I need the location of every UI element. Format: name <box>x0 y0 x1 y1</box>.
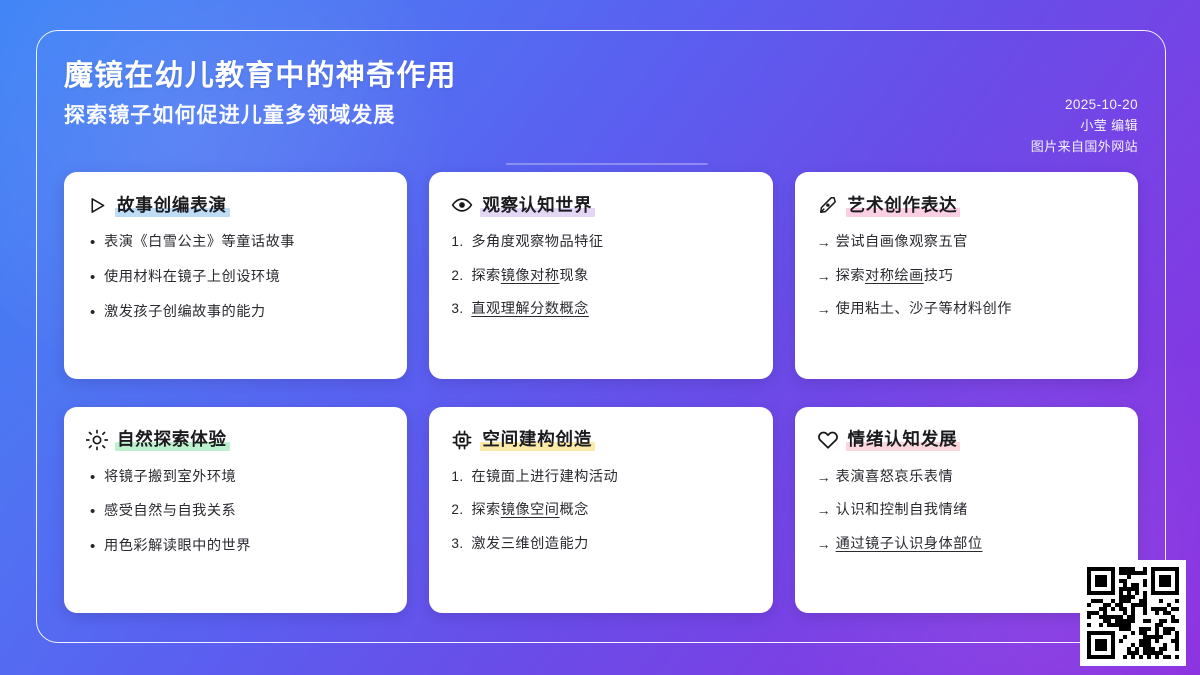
heart-icon <box>817 429 839 451</box>
list-item: 2.探索镜像对称现象 <box>451 266 750 287</box>
list-item-text: 探索镜像对称现象 <box>471 266 750 287</box>
list-item-text: 用色彩解读眼中的世界 <box>104 536 385 557</box>
meta-author: 小莹 编辑 <box>1031 115 1138 136</box>
card-list: •表演《白雪公主》等童话故事•使用材料在镜子上创设环境•激发孩子创编故事的能力 <box>86 232 385 323</box>
list-marker-arrow: → <box>817 299 836 319</box>
card-title: 空间建构创造 <box>482 429 592 449</box>
list-item-text: 使用粘土、沙子等材料创作 <box>836 299 1116 320</box>
list-marker-number: 3. <box>451 534 471 554</box>
list-marker-number: 2. <box>451 266 471 286</box>
list-item: →探索对称绘画技巧 <box>817 266 1116 287</box>
list-marker-bullet: • <box>86 302 104 324</box>
list-marker-arrow: → <box>817 534 836 554</box>
header-meta: 2025-10-20 小莹 编辑 图片来自国外网站 <box>1031 94 1138 157</box>
list-marker-arrow: → <box>817 467 836 487</box>
list-item-text: 探索对称绘画技巧 <box>836 266 1116 287</box>
card-grid: 故事创编表演•表演《白雪公主》等童话故事•使用材料在镜子上创设环境•激发孩子创编… <box>64 172 1138 613</box>
list-marker-arrow: → <box>817 500 836 520</box>
list-item: →表演喜怒哀乐表情 <box>817 467 1116 488</box>
sun-icon <box>86 429 108 451</box>
list-marker-bullet: • <box>86 232 104 254</box>
list-item-text: 在镜面上进行建构活动 <box>471 467 750 488</box>
card-title-wrap: 艺术创作表达 <box>848 195 958 216</box>
list-item: •用色彩解读眼中的世界 <box>86 536 385 558</box>
page-title: 魔镜在幼儿教育中的神奇作用 <box>64 58 1138 94</box>
list-item-text: 表演喜怒哀乐表情 <box>836 467 1116 488</box>
list-item: →使用粘土、沙子等材料创作 <box>817 299 1116 320</box>
list-item: 1.多角度观察物品特征 <box>451 232 750 253</box>
list-item-text: 探索镜像空间概念 <box>471 500 750 521</box>
list-item-text: 将镜子搬到室外环境 <box>104 467 385 488</box>
list-item-text: 直观理解分数概念 <box>471 299 750 320</box>
card-list: 1.在镜面上进行建构活动2.探索镜像空间概念3.激发三维创造能力 <box>451 467 750 555</box>
card-header: 空间建构创造 <box>451 429 750 451</box>
underlined-phrase: 镜像对称 <box>501 268 560 284</box>
card-header: 情绪认知发展 <box>817 429 1116 451</box>
list-marker-bullet: • <box>86 467 104 489</box>
meta-source: 图片来自国外网站 <box>1031 136 1138 157</box>
card: 故事创编表演•表演《白雪公主》等童话故事•使用材料在镜子上创设环境•激发孩子创编… <box>64 172 407 379</box>
list-item-text: 认识和控制自我情绪 <box>836 500 1116 521</box>
card-header: 艺术创作表达 <box>817 194 1116 216</box>
card-title: 自然探索体验 <box>117 429 227 449</box>
card-list: 1.多角度观察物品特征2.探索镜像对称现象3.直观理解分数概念 <box>451 232 750 320</box>
list-item: 2.探索镜像空间概念 <box>451 500 750 521</box>
list-item-text: 激发孩子创编故事的能力 <box>104 302 385 323</box>
meta-date: 2025-10-20 <box>1031 94 1138 115</box>
card-title: 艺术创作表达 <box>848 195 958 215</box>
card-title-wrap: 自然探索体验 <box>117 429 227 450</box>
list-item-text: 通过镜子认识身体部位 <box>836 534 1116 555</box>
card: 自然探索体验•将镜子搬到室外环境•感受自然与自我关系•用色彩解读眼中的世界 <box>64 407 407 614</box>
header-divider <box>506 163 708 165</box>
card-title: 观察认知世界 <box>482 195 592 215</box>
list-item: 3.激发三维创造能力 <box>451 534 750 555</box>
list-item-text: 感受自然与自我关系 <box>104 501 385 522</box>
underlined-phrase: 镜像空间 <box>501 502 560 518</box>
qr-code-image <box>1087 567 1179 659</box>
card: 观察认知世界1.多角度观察物品特征2.探索镜像对称现象3.直观理解分数概念 <box>429 172 772 379</box>
card-title-wrap: 空间建构创造 <box>482 429 592 450</box>
list-item: 3.直观理解分数概念 <box>451 299 750 320</box>
list-item: •激发孩子创编故事的能力 <box>86 302 385 324</box>
list-marker-bullet: • <box>86 501 104 523</box>
list-item: •感受自然与自我关系 <box>86 501 385 523</box>
card-header: 故事创编表演 <box>86 194 385 216</box>
chip-icon <box>451 429 473 451</box>
list-item: →尝试自画像观察五官 <box>817 232 1116 253</box>
list-item-text: 使用材料在镜子上创设环境 <box>104 267 385 288</box>
underlined-phrase: 对称绘画 <box>865 268 924 284</box>
card-title-wrap: 情绪认知发展 <box>848 429 958 450</box>
card-list: →尝试自画像观察五官→探索对称绘画技巧→使用粘土、沙子等材料创作 <box>817 232 1116 320</box>
poster-stage: 魔镜在幼儿教育中的神奇作用 探索镜子如何促进儿童多领域发展 2025-10-20… <box>36 30 1166 643</box>
list-marker-arrow: → <box>817 232 836 252</box>
list-item-text: 激发三维创造能力 <box>471 534 750 555</box>
list-item-text: 尝试自画像观察五官 <box>836 232 1116 253</box>
eye-icon <box>451 194 473 216</box>
list-marker-number: 2. <box>451 500 471 520</box>
card-header: 观察认知世界 <box>451 194 750 216</box>
list-item-text: 多角度观察物品特征 <box>471 232 750 253</box>
card: 空间建构创造1.在镜面上进行建构活动2.探索镜像空间概念3.激发三维创造能力 <box>429 407 772 614</box>
card-title: 故事创编表演 <box>117 195 227 215</box>
list-item: •将镜子搬到室外环境 <box>86 467 385 489</box>
list-marker-bullet: • <box>86 267 104 289</box>
poster-header: 魔镜在幼儿教育中的神奇作用 探索镜子如何促进儿童多领域发展 2025-10-20… <box>64 58 1138 178</box>
list-marker-number: 1. <box>451 467 471 487</box>
page-subtitle: 探索镜子如何促进儿童多领域发展 <box>64 102 1138 129</box>
list-item: 1.在镜面上进行建构活动 <box>451 467 750 488</box>
card-title-wrap: 观察认知世界 <box>482 195 592 216</box>
list-item: →通过镜子认识身体部位 <box>817 534 1116 555</box>
card-header: 自然探索体验 <box>86 429 385 451</box>
list-marker-number: 3. <box>451 299 471 319</box>
card-title-wrap: 故事创编表演 <box>117 195 227 216</box>
list-marker-arrow: → <box>817 266 836 286</box>
card: 艺术创作表达→尝试自画像观察五官→探索对称绘画技巧→使用粘土、沙子等材料创作 <box>795 172 1138 379</box>
play-triangle-icon <box>86 194 108 216</box>
list-item: →认识和控制自我情绪 <box>817 500 1116 521</box>
list-marker-bullet: • <box>86 536 104 558</box>
qr-code[interactable] <box>1080 560 1186 666</box>
list-marker-number: 1. <box>451 232 471 252</box>
list-item-text: 表演《白雪公主》等童话故事 <box>104 232 385 253</box>
pen-nib-icon <box>817 194 839 216</box>
list-item: •表演《白雪公主》等童话故事 <box>86 232 385 254</box>
card-title: 情绪认知发展 <box>848 429 958 449</box>
list-item: •使用材料在镜子上创设环境 <box>86 267 385 289</box>
card-list: →表演喜怒哀乐表情→认识和控制自我情绪→通过镜子认识身体部位 <box>817 467 1116 555</box>
card-list: •将镜子搬到室外环境•感受自然与自我关系•用色彩解读眼中的世界 <box>86 467 385 558</box>
